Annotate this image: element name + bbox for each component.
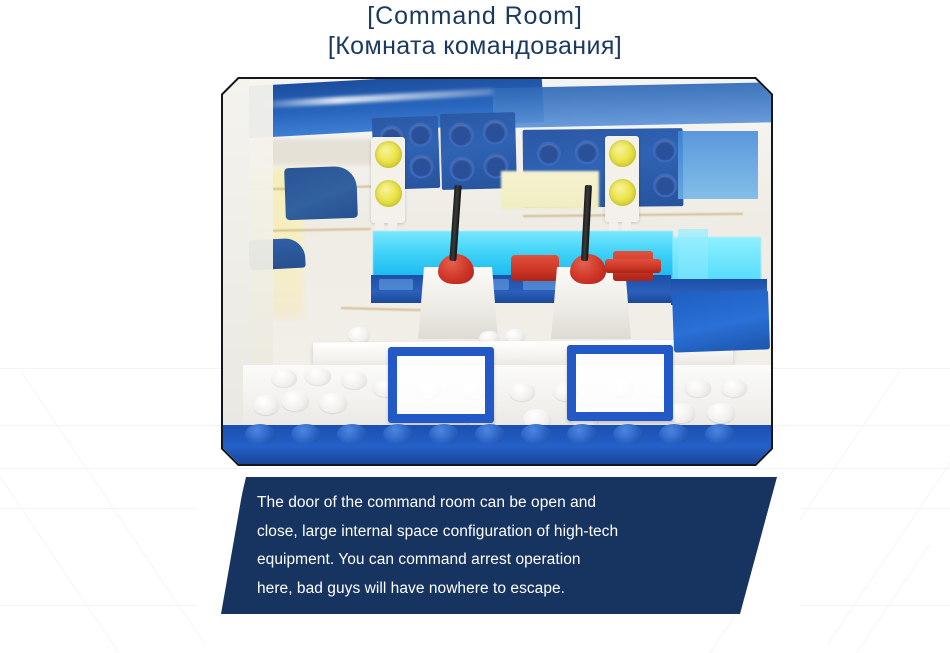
page-title-english: [Command Room]	[0, 2, 950, 31]
floor-stud	[509, 383, 535, 401]
floor-stud	[253, 395, 279, 415]
yellow-light-icon	[609, 179, 636, 206]
grid-line-diagonal	[21, 372, 206, 646]
grid-line-horizontal	[0, 468, 950, 469]
page-title: [Command Room] [Комната командования]	[0, 2, 950, 61]
base-stud	[245, 424, 275, 444]
base-stud	[613, 424, 643, 444]
base-stud	[429, 424, 459, 444]
photo-left-column	[247, 79, 273, 379]
base-stud	[291, 424, 321, 444]
photo-blue-window-right	[678, 131, 758, 199]
photo-counter-tile	[379, 279, 413, 290]
caption-line: equipment. You can command arrest operat…	[257, 546, 757, 575]
photo-blue-chair	[284, 166, 358, 220]
yellow-light-icon	[375, 180, 402, 207]
base-stud	[521, 424, 551, 444]
grid-line-diagonal	[0, 372, 131, 653]
photo-blue-window-frame-right	[567, 345, 673, 421]
brick-stud	[448, 122, 474, 148]
grid-line-diagonal	[840, 544, 930, 653]
brick-stud	[449, 156, 475, 182]
floor-stud	[319, 393, 347, 413]
yellow-light-icon	[609, 140, 636, 167]
base-stud	[383, 424, 413, 444]
floor-stud	[281, 391, 309, 411]
photo-light-fixture-left	[371, 137, 405, 223]
brick-stud	[537, 141, 561, 165]
photo-ceiling-panel-right	[493, 82, 771, 128]
photo-blue-window-frame-left	[388, 347, 494, 423]
brick-stud	[408, 122, 433, 147]
brick-stud	[482, 119, 508, 145]
brick-stud	[409, 154, 434, 179]
grid-line-diagonal	[827, 371, 950, 645]
red-knob-right-bar	[605, 259, 661, 273]
page-title-russian: [Комната командования]	[0, 31, 950, 61]
product-photo-frame	[221, 77, 773, 466]
base-stud	[337, 424, 367, 444]
photo-blue-seat-right	[672, 289, 770, 352]
floor-stud	[341, 371, 367, 389]
caption-line: here, bad guys will have nowhere to esca…	[257, 575, 757, 604]
caption-line: The door of the command room can be open…	[257, 489, 757, 518]
base-stud	[567, 424, 597, 444]
floor-stud	[721, 379, 747, 397]
base-stud	[705, 424, 735, 444]
floor-stud	[707, 403, 735, 423]
base-stud	[659, 424, 689, 444]
desk-stud	[348, 327, 370, 343]
floor-stud	[685, 379, 711, 397]
product-detail-page: [Command Room] [Комната командования]	[0, 0, 950, 653]
yellow-light-icon	[375, 141, 402, 168]
base-stud	[475, 424, 505, 444]
floor-stud	[271, 369, 297, 387]
brick-stud	[575, 140, 599, 164]
photo-light-fixture-right	[605, 136, 639, 222]
floor-stud	[305, 367, 331, 385]
caption-box: The door of the command room can be open…	[214, 477, 782, 614]
product-photo	[223, 79, 771, 464]
caption-text: The door of the command room can be open…	[257, 489, 757, 603]
red-knob-left	[511, 255, 559, 281]
caption-line: close, large internal space configuratio…	[257, 518, 757, 547]
brick-stud	[653, 173, 677, 197]
brick-stud	[653, 138, 677, 162]
